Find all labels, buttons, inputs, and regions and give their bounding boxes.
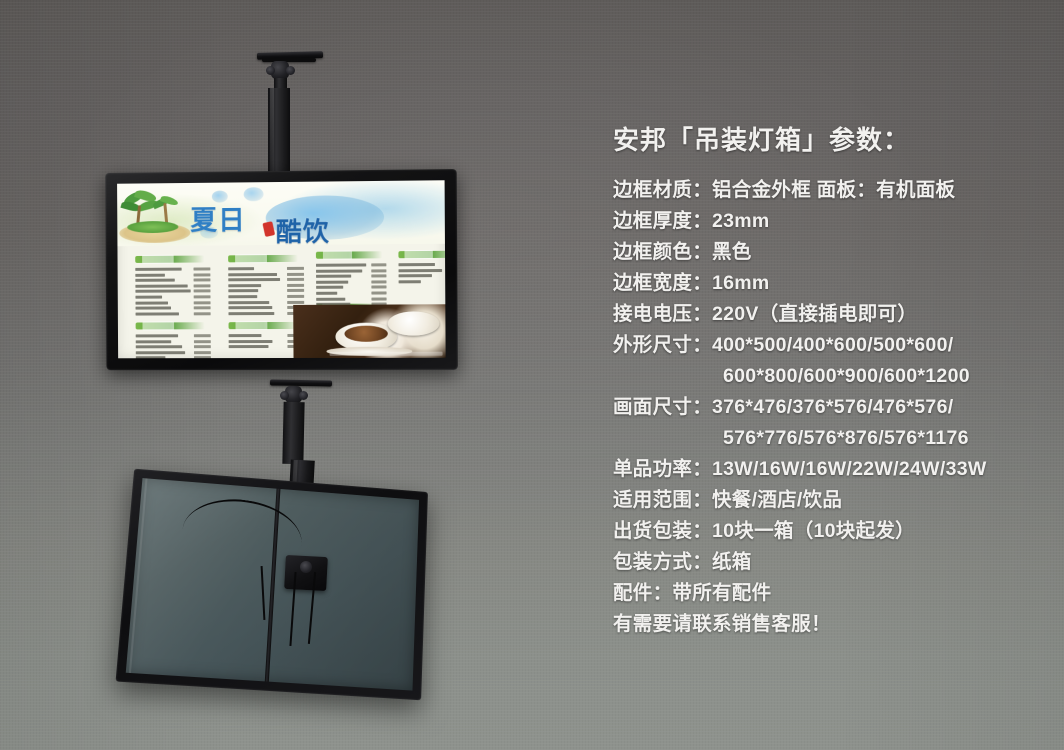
lightbox-aluminium-frame: 夏日 酷饮 xyxy=(105,169,458,370)
spec-line: 包装方式：纸箱 xyxy=(613,547,1045,578)
ceiling-plate-shadow xyxy=(262,58,316,62)
section-ribbon-4 xyxy=(398,251,445,258)
telescoping-pole-lower xyxy=(282,402,304,464)
adjustment-knob-right xyxy=(286,66,295,75)
lower-mount-plate xyxy=(270,379,332,386)
spec-list: 边框材质：铝合金外框 面板：有机面板 边框厚度：23mm 边框颜色：黑色 边框宽… xyxy=(613,175,1045,640)
spec-line-continuation: 576*776/576*876/576*1176 xyxy=(613,423,1045,454)
spec-text-panel: 安邦「吊装灯箱」参数： 边框材质：铝合金外框 面板：有机面板 边框厚度：23mm… xyxy=(613,126,1045,640)
pole-highlight xyxy=(270,88,274,178)
spec-line: 单品功率：13W/16W/16W/22W/24W/33W xyxy=(613,454,1045,485)
spec-line: 接电电压：220V（直接插电即可） xyxy=(613,299,1045,330)
lower-adjustment-knob-right xyxy=(299,391,308,400)
spec-line: 外形尺寸：400*500/400*600/500*600/ xyxy=(613,330,1045,361)
spec-line: 边框颜色：黑色 xyxy=(613,237,1045,268)
spec-line: 边框材质：铝合金外框 面板：有机面板 xyxy=(613,175,1045,206)
poster-headline-main: 夏日 xyxy=(190,198,246,237)
menu-lightbox-front[interactable]: 夏日 酷饮 xyxy=(105,169,458,370)
poster-headline-sub: 酷饮 xyxy=(276,212,330,249)
rear-panel-frame xyxy=(116,469,428,701)
menu-column-3 xyxy=(316,263,387,308)
product-spec-image: 夏日 酷饮 xyxy=(0,0,1064,750)
poster-watermark xyxy=(330,352,443,356)
coffee-cups-photo xyxy=(293,304,445,357)
spec-line: 边框宽度：16mm xyxy=(613,268,1045,299)
rear-view-lightbox-panel[interactable] xyxy=(116,469,428,701)
page-title: 安邦「吊装灯箱」参数： xyxy=(613,126,1045,155)
spec-line: 画面尺寸：376*476/376*576/476*576/ xyxy=(613,392,1045,423)
lower-adjustment-knob-left xyxy=(280,391,289,400)
spec-line: 适用范围：快餐/酒店/饮品 xyxy=(613,485,1045,516)
coffee-cup-back xyxy=(387,311,439,336)
section-ribbon-5 xyxy=(136,322,205,329)
menu-column-5 xyxy=(136,334,211,358)
spec-line: 出货包装：10块一箱（10块起发） xyxy=(613,516,1045,547)
spec-line: 边框厚度：23mm xyxy=(613,206,1045,237)
section-ribbon-3 xyxy=(316,251,382,258)
menu-poster: 夏日 酷饮 xyxy=(117,180,446,358)
spec-line-cta: 有需要请联系销售客服！ xyxy=(613,609,1045,640)
section-ribbon-2 xyxy=(228,255,298,262)
adjustment-knob xyxy=(266,66,275,75)
coffee-brew-surface xyxy=(345,326,388,342)
spec-line: 配件：带所有配件 xyxy=(613,578,1045,609)
section-ribbon-6 xyxy=(229,322,299,329)
spec-line-continuation: 600*800/600*900/600*1200 xyxy=(613,361,1045,392)
menu-column-4 xyxy=(398,263,445,286)
section-ribbon-1 xyxy=(135,256,204,263)
rear-bracket-knob xyxy=(300,561,312,573)
menu-column-1 xyxy=(135,267,210,317)
